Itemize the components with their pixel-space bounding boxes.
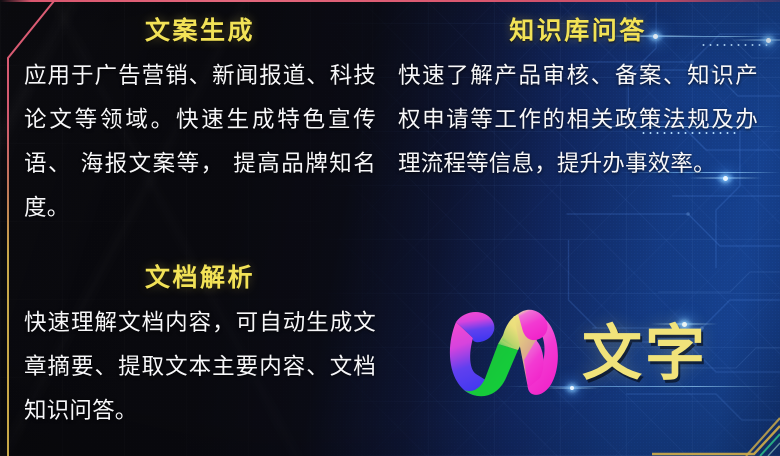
card-document-parsing-title: 文档解析 [24,265,376,290]
card-copywriting-title: 文案生成 [24,18,376,43]
card-knowledge-base-qa: 知识库问答 快速了解产品审核、备案、知识产权申请等工作的相关政策法规及办理流程等… [398,18,758,186]
brand-wordmark: 文字 [582,324,708,384]
top-accent-line [0,0,780,2]
card-knowledge-base-qa-body: 快速了解产品审核、备案、知识产权申请等工作的相关政策法规及办理流程等信息，提升办… [398,54,758,186]
card-document-parsing-body: 快速理解文档内容，可自动生成文章摘要、提取文本主要内容、文档知识问答。 [24,301,376,433]
card-knowledge-base-qa-title: 知识库问答 [398,18,758,43]
card-document-parsing: 文档解析 快速理解文档内容，可自动生成文章摘要、提取文本主要内容、文档知识问答。 [24,265,376,433]
card-copywriting-body: 应用于广告营销、新闻报道、科技论文等领域。快速生成特色宣传语、 海报文案等， 提… [24,54,376,230]
slide-canvas: 文案生成 应用于广告营销、新闻报道、科技论文等领域。快速生成特色宣传语、 海报文… [0,0,780,456]
w-ribbon-logo-icon [440,300,568,408]
card-copywriting: 文案生成 应用于广告营销、新闻报道、科技论文等领域。快速生成特色宣传语、 海报文… [24,18,376,230]
brand-logo-lockup: 文字 [440,298,720,410]
